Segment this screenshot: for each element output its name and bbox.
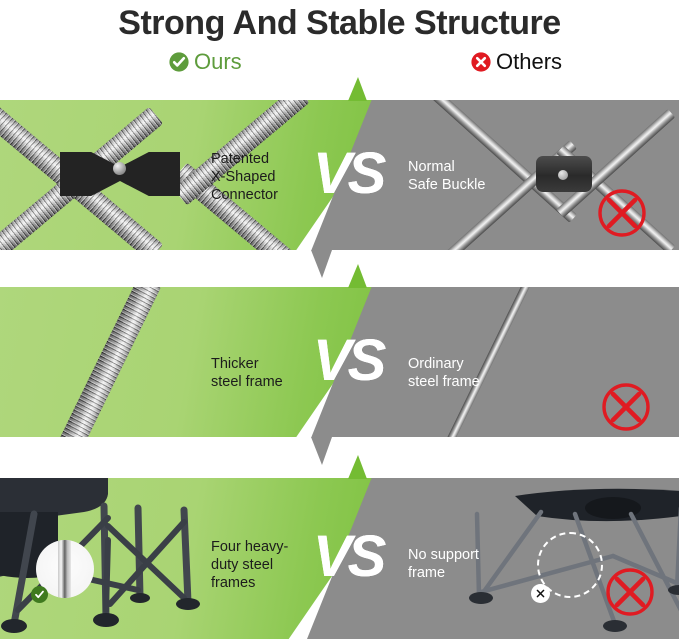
others-label-line: frame bbox=[408, 564, 479, 582]
others-label-line: steel frame bbox=[408, 373, 480, 391]
x-circle-icon bbox=[470, 51, 492, 73]
ours-label-four-frames: Four heavy- duty steel frames bbox=[211, 538, 288, 592]
ours-label-line: Patented bbox=[211, 150, 278, 168]
legend-item-ours: Ours bbox=[168, 49, 242, 75]
comparison-row-connector: Patented X-Shaped Connector Normal Safe … bbox=[0, 100, 679, 250]
check-circle-icon bbox=[168, 51, 190, 73]
legend-item-others: Others bbox=[470, 49, 562, 75]
ours-label-line: Connector bbox=[211, 186, 278, 204]
ours-label-line: frames bbox=[211, 574, 288, 592]
ours-label-line: Four heavy- bbox=[211, 538, 288, 556]
others-label-ordinary-frame: Ordinary steel frame bbox=[408, 355, 480, 391]
ours-label-line: steel frame bbox=[211, 373, 283, 391]
vs-label: VS bbox=[313, 332, 382, 390]
ours-panel-arrow-tip bbox=[348, 77, 367, 101]
others-label-buckle: Normal Safe Buckle bbox=[408, 158, 485, 194]
ours-label-line: Thicker bbox=[211, 355, 283, 373]
magnified-steel-tube bbox=[58, 540, 71, 598]
others-label-line: Ordinary bbox=[408, 355, 480, 373]
ours-label-line: duty steel bbox=[211, 556, 288, 574]
comparison-row-steel-frame: Thicker steel frame Ordinary steel frame… bbox=[0, 287, 679, 437]
x-badge-icon bbox=[531, 584, 550, 603]
check-badge-icon bbox=[31, 586, 48, 603]
ours-panel-arrow-tip bbox=[348, 455, 367, 479]
others-label-no-support: No support frame bbox=[408, 546, 479, 582]
legend-label-others: Others bbox=[496, 49, 562, 75]
others-label-line: No support bbox=[408, 546, 479, 564]
ours-label-line: X-Shaped bbox=[211, 168, 278, 186]
ours-panel-arrow-tip bbox=[348, 264, 367, 288]
legend-label-ours: Ours bbox=[194, 49, 242, 75]
vs-label: VS bbox=[313, 145, 382, 203]
others-label-line: Normal bbox=[408, 158, 485, 176]
red-circle-x-stamp bbox=[604, 566, 656, 623]
page-title: Strong And Stable Structure bbox=[0, 0, 679, 43]
red-circle-x-stamp bbox=[596, 187, 648, 244]
others-panel-arrow-tip bbox=[311, 250, 332, 278]
others-label-line: Safe Buckle bbox=[408, 176, 485, 194]
legend: Ours Others bbox=[0, 43, 679, 85]
comparison-row-support-frames: Four heavy- duty steel frames No support… bbox=[0, 478, 679, 639]
others-panel-arrow-tip bbox=[311, 437, 332, 465]
vs-label: VS bbox=[313, 528, 382, 586]
ours-label-connector: Patented X-Shaped Connector bbox=[211, 150, 278, 204]
ours-label-thicker-frame: Thicker steel frame bbox=[211, 355, 283, 391]
red-circle-x-stamp bbox=[600, 381, 652, 438]
